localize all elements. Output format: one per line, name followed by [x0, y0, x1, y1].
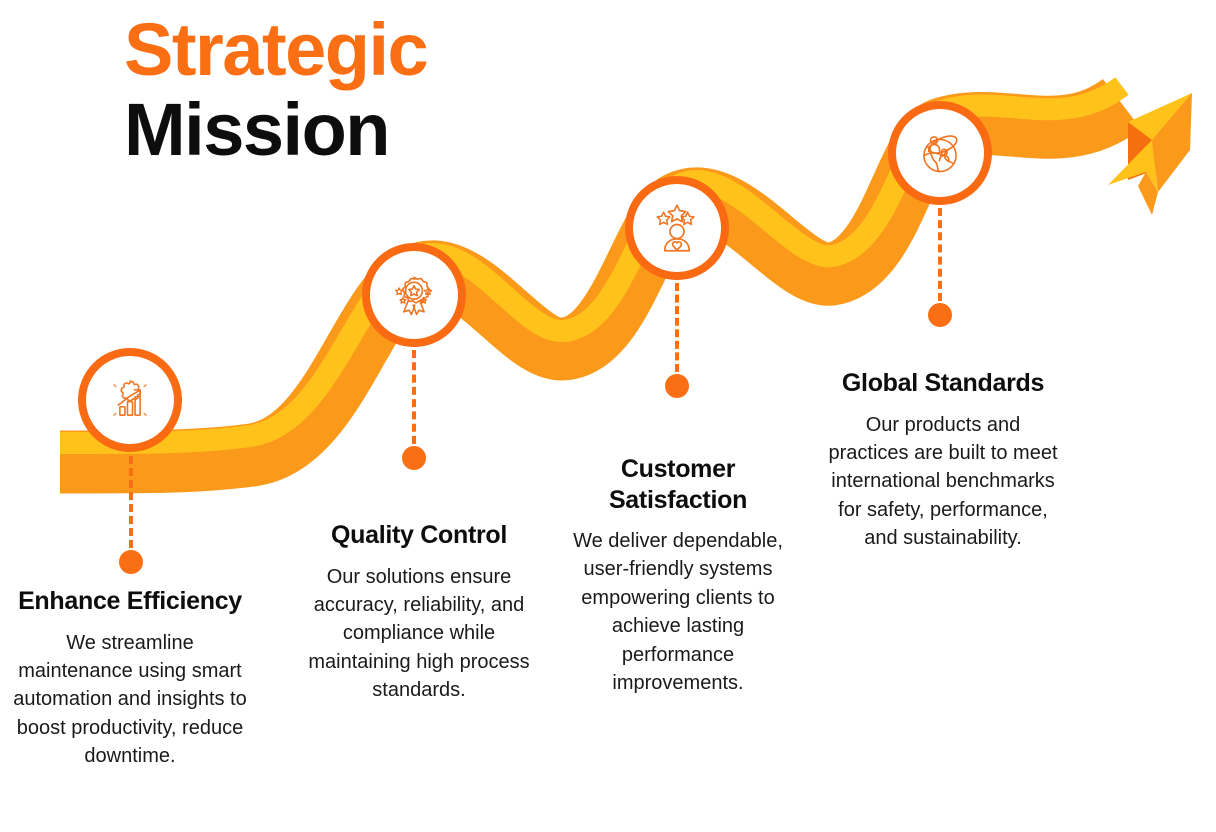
- step-heading-3: Customer Satisfaction: [558, 454, 798, 515]
- infographic-canvas: Strategic Mission: [0, 0, 1216, 832]
- step-text-1: Enhance Efficiency We streamline mainten…: [10, 586, 250, 770]
- step-icon-circle-3[interactable]: [625, 176, 729, 280]
- step-text-4: Global Standards Our products and practi…: [824, 368, 1062, 552]
- connector-line-2: [412, 350, 416, 444]
- connector-dot-2: [402, 446, 426, 470]
- connector-line-1: [129, 456, 133, 548]
- title-line-strategic: Strategic: [124, 14, 427, 86]
- step-heading-1: Enhance Efficiency: [10, 586, 250, 617]
- step-text-3: Customer Satisfaction We deliver dependa…: [558, 454, 798, 697]
- globe-people-icon: [913, 126, 967, 180]
- connector-line-3: [675, 283, 679, 372]
- step-heading-2: Quality Control: [296, 520, 542, 551]
- award-ribbon-badge-icon: [387, 268, 441, 322]
- connector-dot-1: [119, 550, 143, 574]
- gear-bar-chart-growth-icon: [103, 373, 157, 427]
- step-body-2: Our solutions ensure accuracy, reliabili…: [296, 563, 542, 705]
- step-body-4: Our products and practices are built to …: [824, 411, 1062, 553]
- connector-dot-3: [665, 374, 689, 398]
- step-icon-circle-1[interactable]: [78, 348, 182, 452]
- step-body-1: We streamline maintenance using smart au…: [10, 629, 250, 771]
- step-body-3: We deliver dependable, user-friendly sys…: [558, 527, 798, 697]
- page-title: Strategic Mission: [124, 14, 427, 166]
- connector-dot-4: [928, 303, 952, 327]
- step-text-2: Quality Control Our solutions ensure acc…: [296, 520, 542, 704]
- step-icon-circle-4[interactable]: [888, 101, 992, 205]
- step-icon-circle-2[interactable]: [362, 243, 466, 347]
- title-line-mission: Mission: [124, 94, 427, 166]
- person-stars-heart-icon: [649, 200, 705, 256]
- arrow-head-icon: [1108, 93, 1192, 215]
- connector-line-4: [938, 208, 942, 301]
- step-heading-4: Global Standards: [824, 368, 1062, 399]
